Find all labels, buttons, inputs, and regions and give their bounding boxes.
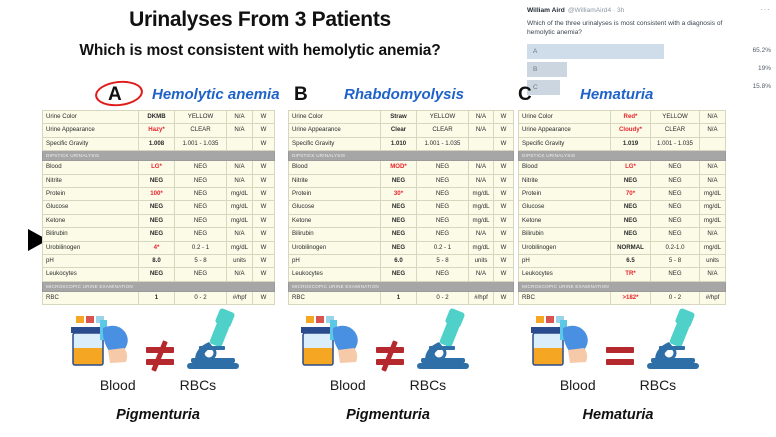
cell-flag: W — [253, 268, 275, 281]
table-row: Urine AppearanceHazy*CLEARN/AW — [43, 124, 275, 137]
table-row: pH6.55 - 8units — [519, 255, 726, 268]
cell-units: N/A — [700, 161, 726, 174]
cell-result: Straw — [381, 111, 417, 124]
equal-icon — [603, 335, 637, 375]
cell-analyte: Bilirubin — [519, 228, 611, 241]
table-row: Protein70*NEGmg/dL — [519, 188, 726, 201]
cell-flag: W — [494, 161, 514, 174]
panel-a-letter: A — [108, 84, 122, 106]
cell-result: 1.008 — [139, 137, 175, 150]
cell-reference-range: NEG — [417, 214, 469, 227]
poll-pct-a: 65.2% — [737, 46, 771, 55]
poll-pct-b: 19% — [737, 64, 771, 73]
cell-reference-range: CLEAR — [175, 124, 227, 137]
cell-analyte: Leukocytes — [519, 268, 611, 281]
cell-reference-range: NEG — [175, 268, 227, 281]
cell-result: Clear — [381, 124, 417, 137]
poll-option-a[interactable]: A 65.2% — [527, 44, 771, 59]
table-section-label: MICROSCOPIC URINE EXAMINATION — [43, 281, 275, 291]
panel-c-header: C Hematuria — [518, 84, 725, 110]
figure-c-blood-label: Blood — [560, 377, 596, 393]
cell-analyte: Nitrite — [43, 174, 139, 187]
panel-a-header: A Hemolytic anemia — [42, 84, 274, 110]
cell-units: mg/dL — [469, 214, 494, 227]
cell-result: >182* — [611, 291, 651, 304]
table-row: BilirubinNEGNEGN/A — [519, 228, 726, 241]
cell-reference-range: NEG — [651, 214, 700, 227]
table-section-header: MICROSCOPIC URINE EXAMINATION — [289, 281, 514, 291]
cell-reference-range: NEG — [651, 174, 700, 187]
figure-a-conclusion: Pigmenturia — [40, 407, 276, 423]
cell-units: N/A — [469, 228, 494, 241]
cell-reference-range: 0 - 2 — [175, 291, 227, 304]
cell-units: mg/dL — [700, 201, 726, 214]
cell-units: mg/dL — [227, 241, 253, 254]
cell-flag: W — [494, 188, 514, 201]
table-row: UrobilinogenNORMAL0.2-1.0mg/dL — [519, 241, 726, 254]
cell-analyte: Leukocytes — [289, 268, 381, 281]
cell-units: N/A — [700, 228, 726, 241]
cell-analyte: Nitrite — [289, 174, 381, 187]
panel-b: B Rhabdomyolysis Urine ColorStrawYELLOWN… — [288, 84, 513, 305]
not-equal-icon — [373, 335, 407, 375]
cell-result: 6.0 — [381, 255, 417, 268]
table-row: NitriteNEGNEGN/AW — [43, 174, 275, 187]
table-row: BloodMOD*NEGN/AW — [289, 161, 514, 174]
table-row: RBC10 - 2#/hpfW — [289, 291, 514, 304]
urinalysis-table-a: Urine ColorDKMBYELLOWN/AWUrine Appearanc… — [42, 110, 275, 305]
cell-analyte: pH — [43, 255, 139, 268]
table-row: Urine ColorStrawYELLOWN/AW — [289, 111, 514, 124]
cell-units: units — [227, 255, 253, 268]
table-row: Specific Gravity1.0191.001 - 1.035 — [519, 137, 726, 150]
cell-reference-range: 0.2-1.0 — [651, 241, 700, 254]
table-row: Urine AppearanceCloudy*CLEARN/A — [519, 124, 726, 137]
table-section-label: DIPSTICK URINALYSIS — [519, 151, 726, 161]
cell-result: 4* — [139, 241, 175, 254]
cell-units: N/A — [227, 228, 253, 241]
table-row: GlucoseNEGNEGmg/dL — [519, 201, 726, 214]
cell-result: 100* — [139, 188, 175, 201]
urinalysis-table-b-body: Urine ColorStrawYELLOWN/AWUrine Appearan… — [289, 111, 514, 305]
cell-analyte: Protein — [519, 188, 611, 201]
table-row: Protein30*NEGmg/dLW — [289, 188, 514, 201]
cell-analyte: Protein — [289, 188, 381, 201]
poll-pct-c: 15.8% — [737, 82, 771, 91]
cell-flag: W — [253, 291, 275, 304]
cell-analyte: Bilirubin — [289, 228, 381, 241]
cell-units: N/A — [700, 124, 726, 137]
figure-b-rbc-label: RBCs — [410, 377, 447, 393]
cell-result: NEG — [139, 174, 175, 187]
cell-reference-range: NEG — [651, 268, 700, 281]
table-row: KetoneNEGNEGmg/dL — [519, 214, 726, 227]
cell-reference-range: 1.001 - 1.035 — [417, 137, 469, 150]
cell-analyte: RBC — [519, 291, 611, 304]
cell-result: MOD* — [381, 161, 417, 174]
table-row: Protein100*NEGmg/dLW — [43, 188, 275, 201]
urinalysis-table-c: Urine ColorRed*YELLOWN/AUrine Appearance… — [518, 110, 726, 305]
cell-result: LG* — [611, 161, 651, 174]
cell-result: Cloudy* — [611, 124, 651, 137]
cell-flag: W — [494, 255, 514, 268]
cell-units: N/A — [469, 174, 494, 187]
cell-result: 6.5 — [611, 255, 651, 268]
microscope-icon — [179, 308, 249, 375]
cell-result: NEG — [381, 268, 417, 281]
table-row: LeukocytesTR*NEGN/A — [519, 268, 726, 281]
cell-analyte: Urine Color — [519, 111, 611, 124]
cell-result: NEG — [611, 228, 651, 241]
cell-reference-range: NEG — [175, 188, 227, 201]
cell-analyte: Protein — [43, 188, 139, 201]
cell-reference-range: NEG — [175, 214, 227, 227]
cell-result: NEG — [381, 214, 417, 227]
cell-reference-range: NEG — [175, 228, 227, 241]
figure-c-rbc-label: RBCs — [640, 377, 677, 393]
poll-bar-a — [527, 44, 664, 59]
cell-result: NEG — [611, 201, 651, 214]
urinalysis-table-b: Urine ColorStrawYELLOWN/AWUrine Appearan… — [288, 110, 514, 305]
cell-units: N/A — [227, 111, 253, 124]
cell-flag: W — [253, 111, 275, 124]
table-row: pH6.05 - 8unitsW — [289, 255, 514, 268]
cell-result: NEG — [381, 201, 417, 214]
cell-flag: W — [253, 137, 275, 150]
table-row: BilirubinNEGNEGN/AW — [43, 228, 275, 241]
cell-reference-range: NEG — [651, 161, 700, 174]
table-row: KetoneNEGNEGmg/dLW — [289, 214, 514, 227]
cell-flag: W — [494, 291, 514, 304]
table-section-label: DIPSTICK URINALYSIS — [43, 151, 275, 161]
cell-reference-range: NEG — [417, 268, 469, 281]
cell-units: mg/dL — [700, 214, 726, 227]
cell-reference-range: NEG — [417, 228, 469, 241]
cell-flag: W — [253, 228, 275, 241]
cell-analyte: RBC — [289, 291, 381, 304]
cell-units: N/A — [469, 124, 494, 137]
figure-a-labels: Blood RBCs — [40, 377, 276, 393]
table-section-label: DIPSTICK URINALYSIS — [289, 151, 514, 161]
table-row: Urine ColorDKMBYELLOWN/AW — [43, 111, 275, 124]
table-row: Urine ColorRed*YELLOWN/A — [519, 111, 726, 124]
cell-reference-range: NEG — [175, 174, 227, 187]
figure-b-conclusion: Pigmenturia — [270, 407, 506, 423]
cell-result: TR* — [611, 268, 651, 281]
table-section-header: MICROSCOPIC URINE EXAMINATION — [43, 281, 275, 291]
cell-reference-range: NEG — [417, 161, 469, 174]
cell-result: Hazy* — [139, 124, 175, 137]
cell-reference-range: CLEAR — [651, 124, 700, 137]
cell-units — [469, 137, 494, 150]
cell-result: NEG — [139, 201, 175, 214]
cell-result: 1.019 — [611, 137, 651, 150]
table-row: pH8.05 - 8unitsW — [43, 255, 275, 268]
table-row: KetoneNEGNEGmg/dLW — [43, 214, 275, 227]
poll-bar-wrap-a: A — [527, 44, 737, 59]
cell-units: mg/dL — [227, 188, 253, 201]
table-row: NitriteNEGNEGN/A — [519, 174, 726, 187]
panel-a-diagnosis: Hemolytic anemia — [152, 86, 280, 103]
cell-units: mg/dL — [469, 201, 494, 214]
cell-flag: W — [494, 268, 514, 281]
cell-reference-range: NEG — [175, 201, 227, 214]
table-row: UrobilinogenNEG0.2 - 1mg/dLW — [289, 241, 514, 254]
urine-cup-dipstick-icon — [527, 310, 601, 375]
cell-flag: W — [494, 228, 514, 241]
cell-units: N/A — [700, 111, 726, 124]
cell-reference-range: 0 - 2 — [651, 291, 700, 304]
figure-a: Blood RBCs Pigmenturia — [40, 308, 276, 423]
cell-reference-range: 1.001 - 1.035 — [651, 137, 700, 150]
cell-reference-range: NEG — [417, 174, 469, 187]
cell-result: 1 — [381, 291, 417, 304]
cell-result: NEG — [381, 228, 417, 241]
table-section-header: MICROSCOPIC URINE EXAMINATION — [519, 281, 726, 291]
cell-flag: W — [253, 255, 275, 268]
table-row: Urine AppearanceClearCLEARN/AW — [289, 124, 514, 137]
panel-c: C Hematuria Urine ColorRed*YELLOWN/AUrin… — [518, 84, 725, 305]
cell-flag: W — [494, 111, 514, 124]
cell-analyte: Urine Color — [289, 111, 381, 124]
table-row: Specific Gravity1.0101.001 - 1.035W — [289, 137, 514, 150]
panel-b-header: B Rhabdomyolysis — [288, 84, 513, 110]
tweet-author: William Aird — [527, 6, 565, 16]
cell-result: 1.010 — [381, 137, 417, 150]
table-row: GlucoseNEGNEGmg/dLW — [43, 201, 275, 214]
cell-analyte: Urobilinogen — [43, 241, 139, 254]
cell-result: LG* — [139, 161, 175, 174]
table-section-label: MICROSCOPIC URINE EXAMINATION — [289, 281, 514, 291]
cell-reference-range: 5 - 8 — [175, 255, 227, 268]
urine-cup-dipstick-icon — [67, 310, 141, 375]
cell-flag: W — [494, 174, 514, 187]
page-title: Urinalyses From 3 Patients — [0, 8, 520, 32]
cell-units: mg/dL — [469, 188, 494, 201]
cell-analyte: Specific Gravity — [289, 137, 381, 150]
cell-reference-range: 0.2 - 1 — [417, 241, 469, 254]
table-section-header: DIPSTICK URINALYSIS — [289, 151, 514, 161]
cell-units: units — [469, 255, 494, 268]
cell-units: mg/dL — [469, 241, 494, 254]
cell-reference-range: 5 - 8 — [651, 255, 700, 268]
cell-flag: W — [253, 161, 275, 174]
table-row: GlucoseNEGNEGmg/dLW — [289, 201, 514, 214]
table-section-header: DIPSTICK URINALYSIS — [43, 151, 275, 161]
cell-analyte: Bilirubin — [43, 228, 139, 241]
page-subtitle: Which is most consistent with hemolytic … — [0, 42, 520, 60]
cell-flag: W — [253, 124, 275, 137]
cell-flag: W — [253, 174, 275, 187]
cell-result: DKMB — [139, 111, 175, 124]
cell-reference-range: NEG — [417, 188, 469, 201]
cell-result: NEG — [381, 241, 417, 254]
figure-b-blood-label: Blood — [330, 377, 366, 393]
cell-units: N/A — [700, 174, 726, 187]
table-row: BilirubinNEGNEGN/AW — [289, 228, 514, 241]
cell-units: mg/dL — [227, 201, 253, 214]
figure-b-icons — [270, 308, 506, 375]
urinalysis-table-a-body: Urine ColorDKMBYELLOWN/AWUrine Appearanc… — [43, 111, 275, 305]
cell-analyte: Urine Appearance — [43, 124, 139, 137]
tweet-handle: @WilliamAird4 · 3h — [568, 6, 625, 16]
cell-reference-range: NEG — [651, 188, 700, 201]
table-row: NitriteNEGNEGN/AW — [289, 174, 514, 187]
panel-b-letter: B — [294, 84, 308, 106]
cell-result: 1 — [139, 291, 175, 304]
cell-analyte: Urobilinogen — [519, 241, 611, 254]
cell-result: NEG — [611, 214, 651, 227]
cell-flag: W — [253, 214, 275, 227]
cell-reference-range: NEG — [175, 161, 227, 174]
cell-result: 8.0 — [139, 255, 175, 268]
cell-reference-range: 0.2 - 1 — [175, 241, 227, 254]
table-row: BloodLG*NEGN/A — [519, 161, 726, 174]
cell-analyte: Specific Gravity — [519, 137, 611, 150]
microscope-icon — [639, 308, 709, 375]
cell-units: N/A — [227, 174, 253, 187]
cell-reference-range: YELLOW — [175, 111, 227, 124]
cell-units: mg/dL — [227, 214, 253, 227]
panel-b-diagnosis: Rhabdomyolysis — [344, 86, 464, 103]
cell-reference-range: 0 - 2 — [417, 291, 469, 304]
cell-units: N/A — [700, 268, 726, 281]
cell-reference-range: NEG — [651, 228, 700, 241]
cell-analyte: Blood — [43, 161, 139, 174]
tweet-text: Which of the three urinalyses is most co… — [527, 19, 739, 38]
figure-c-labels: Blood RBCs — [500, 377, 736, 393]
table-row: RBC10 - 2#/hpfW — [43, 291, 275, 304]
cell-units — [700, 137, 726, 150]
figure-b-labels: Blood RBCs — [270, 377, 506, 393]
cell-result: NEG — [611, 174, 651, 187]
cell-flag: W — [494, 137, 514, 150]
cell-flag: W — [253, 188, 275, 201]
cell-analyte: pH — [289, 255, 381, 268]
cell-units: N/A — [227, 268, 253, 281]
figure-a-rbc-label: RBCs — [180, 377, 217, 393]
panel-c-diagnosis: Hematuria — [580, 86, 653, 103]
cell-result: 30* — [381, 188, 417, 201]
cell-units: mg/dL — [700, 241, 726, 254]
figure-c-icons — [500, 308, 736, 375]
table-section-header: DIPSTICK URINALYSIS — [519, 151, 726, 161]
cell-analyte: Urine Color — [43, 111, 139, 124]
cell-flag: W — [494, 214, 514, 227]
panel-c-letter: C — [518, 84, 532, 106]
not-equal-icon — [143, 335, 177, 375]
figure-b: Blood RBCs Pigmenturia — [270, 308, 506, 423]
poll-bar-wrap-b: B — [527, 62, 737, 77]
cell-flag: W — [494, 241, 514, 254]
cell-units: units — [700, 255, 726, 268]
cell-analyte: Urobilinogen — [289, 241, 381, 254]
cell-analyte: Specific Gravity — [43, 137, 139, 150]
cell-reference-range: 5 - 8 — [417, 255, 469, 268]
cell-flag: W — [253, 241, 275, 254]
cell-reference-range: 1.001 - 1.035 — [175, 137, 227, 150]
cell-units: N/A — [469, 268, 494, 281]
cell-units: N/A — [469, 111, 494, 124]
cell-analyte: Urine Appearance — [289, 124, 381, 137]
cell-flag: W — [494, 124, 514, 137]
cell-units: mg/dL — [700, 188, 726, 201]
cell-result: Red* — [611, 111, 651, 124]
cell-analyte: Blood — [519, 161, 611, 174]
cell-units: #/hpf — [469, 291, 494, 304]
cell-analyte: pH — [519, 255, 611, 268]
figure-a-blood-label: Blood — [100, 377, 136, 393]
panel-a: A Hemolytic anemia Urine ColorDKMBYELLOW… — [42, 84, 274, 305]
cell-result: NEG — [139, 228, 175, 241]
cell-units — [227, 137, 253, 150]
cell-analyte: Blood — [289, 161, 381, 174]
figure-a-icons — [40, 308, 276, 375]
cell-analyte: Urine Appearance — [519, 124, 611, 137]
cell-reference-range: NEG — [417, 201, 469, 214]
cell-analyte: Ketone — [519, 214, 611, 227]
cell-analyte: RBC — [43, 291, 139, 304]
poll-label-a: A — [533, 47, 537, 56]
microscope-icon — [409, 308, 479, 375]
slide-root: Urinalyses From 3 Patients Which is most… — [0, 0, 776, 437]
cell-units: N/A — [469, 161, 494, 174]
cell-result: NEG — [139, 268, 175, 281]
cell-units: N/A — [227, 161, 253, 174]
table-row: BloodLG*NEGN/AW — [43, 161, 275, 174]
figure-c: Blood RBCs Hematuria — [500, 308, 736, 423]
urinalysis-table-c-body: Urine ColorRed*YELLOWN/AUrine Appearance… — [519, 111, 726, 305]
table-row: Urobilinogen4*0.2 - 1mg/dLW — [43, 241, 275, 254]
cell-units: N/A — [227, 124, 253, 137]
cell-analyte: Ketone — [289, 214, 381, 227]
cell-result: NEG — [381, 174, 417, 187]
cell-reference-range: CLEAR — [417, 124, 469, 137]
cell-flag: W — [253, 201, 275, 214]
poll-label-b: B — [533, 65, 537, 74]
cell-analyte: Ketone — [43, 214, 139, 227]
table-row: LeukocytesNEGNEGN/AW — [43, 268, 275, 281]
cell-result: 70* — [611, 188, 651, 201]
tweet-header: William Aird @WilliamAird4 · 3h ··· — [527, 6, 771, 16]
figure-c-conclusion: Hematuria — [500, 407, 736, 423]
cell-analyte: Glucose — [519, 201, 611, 214]
poll-option-b[interactable]: B 19% — [527, 62, 771, 77]
table-row: LeukocytesNEGNEGN/AW — [289, 268, 514, 281]
cell-analyte: Nitrite — [519, 174, 611, 187]
table-section-label: MICROSCOPIC URINE EXAMINATION — [519, 281, 726, 291]
urine-cup-dipstick-icon — [297, 310, 371, 375]
cell-result: NORMAL — [611, 241, 651, 254]
cell-reference-range: YELLOW — [651, 111, 700, 124]
table-row: RBC>182*0 - 2#/hpf — [519, 291, 726, 304]
cell-units: #/hpf — [227, 291, 253, 304]
cell-reference-range: YELLOW — [417, 111, 469, 124]
cell-analyte: Leukocytes — [43, 268, 139, 281]
cell-analyte: Glucose — [43, 201, 139, 214]
more-options-icon[interactable]: ··· — [760, 8, 771, 13]
cell-units: #/hpf — [700, 291, 726, 304]
table-row: Specific Gravity1.0081.001 - 1.035W — [43, 137, 275, 150]
cell-analyte: Glucose — [289, 201, 381, 214]
cell-reference-range: NEG — [651, 201, 700, 214]
cell-flag: W — [494, 201, 514, 214]
cell-result: NEG — [139, 214, 175, 227]
